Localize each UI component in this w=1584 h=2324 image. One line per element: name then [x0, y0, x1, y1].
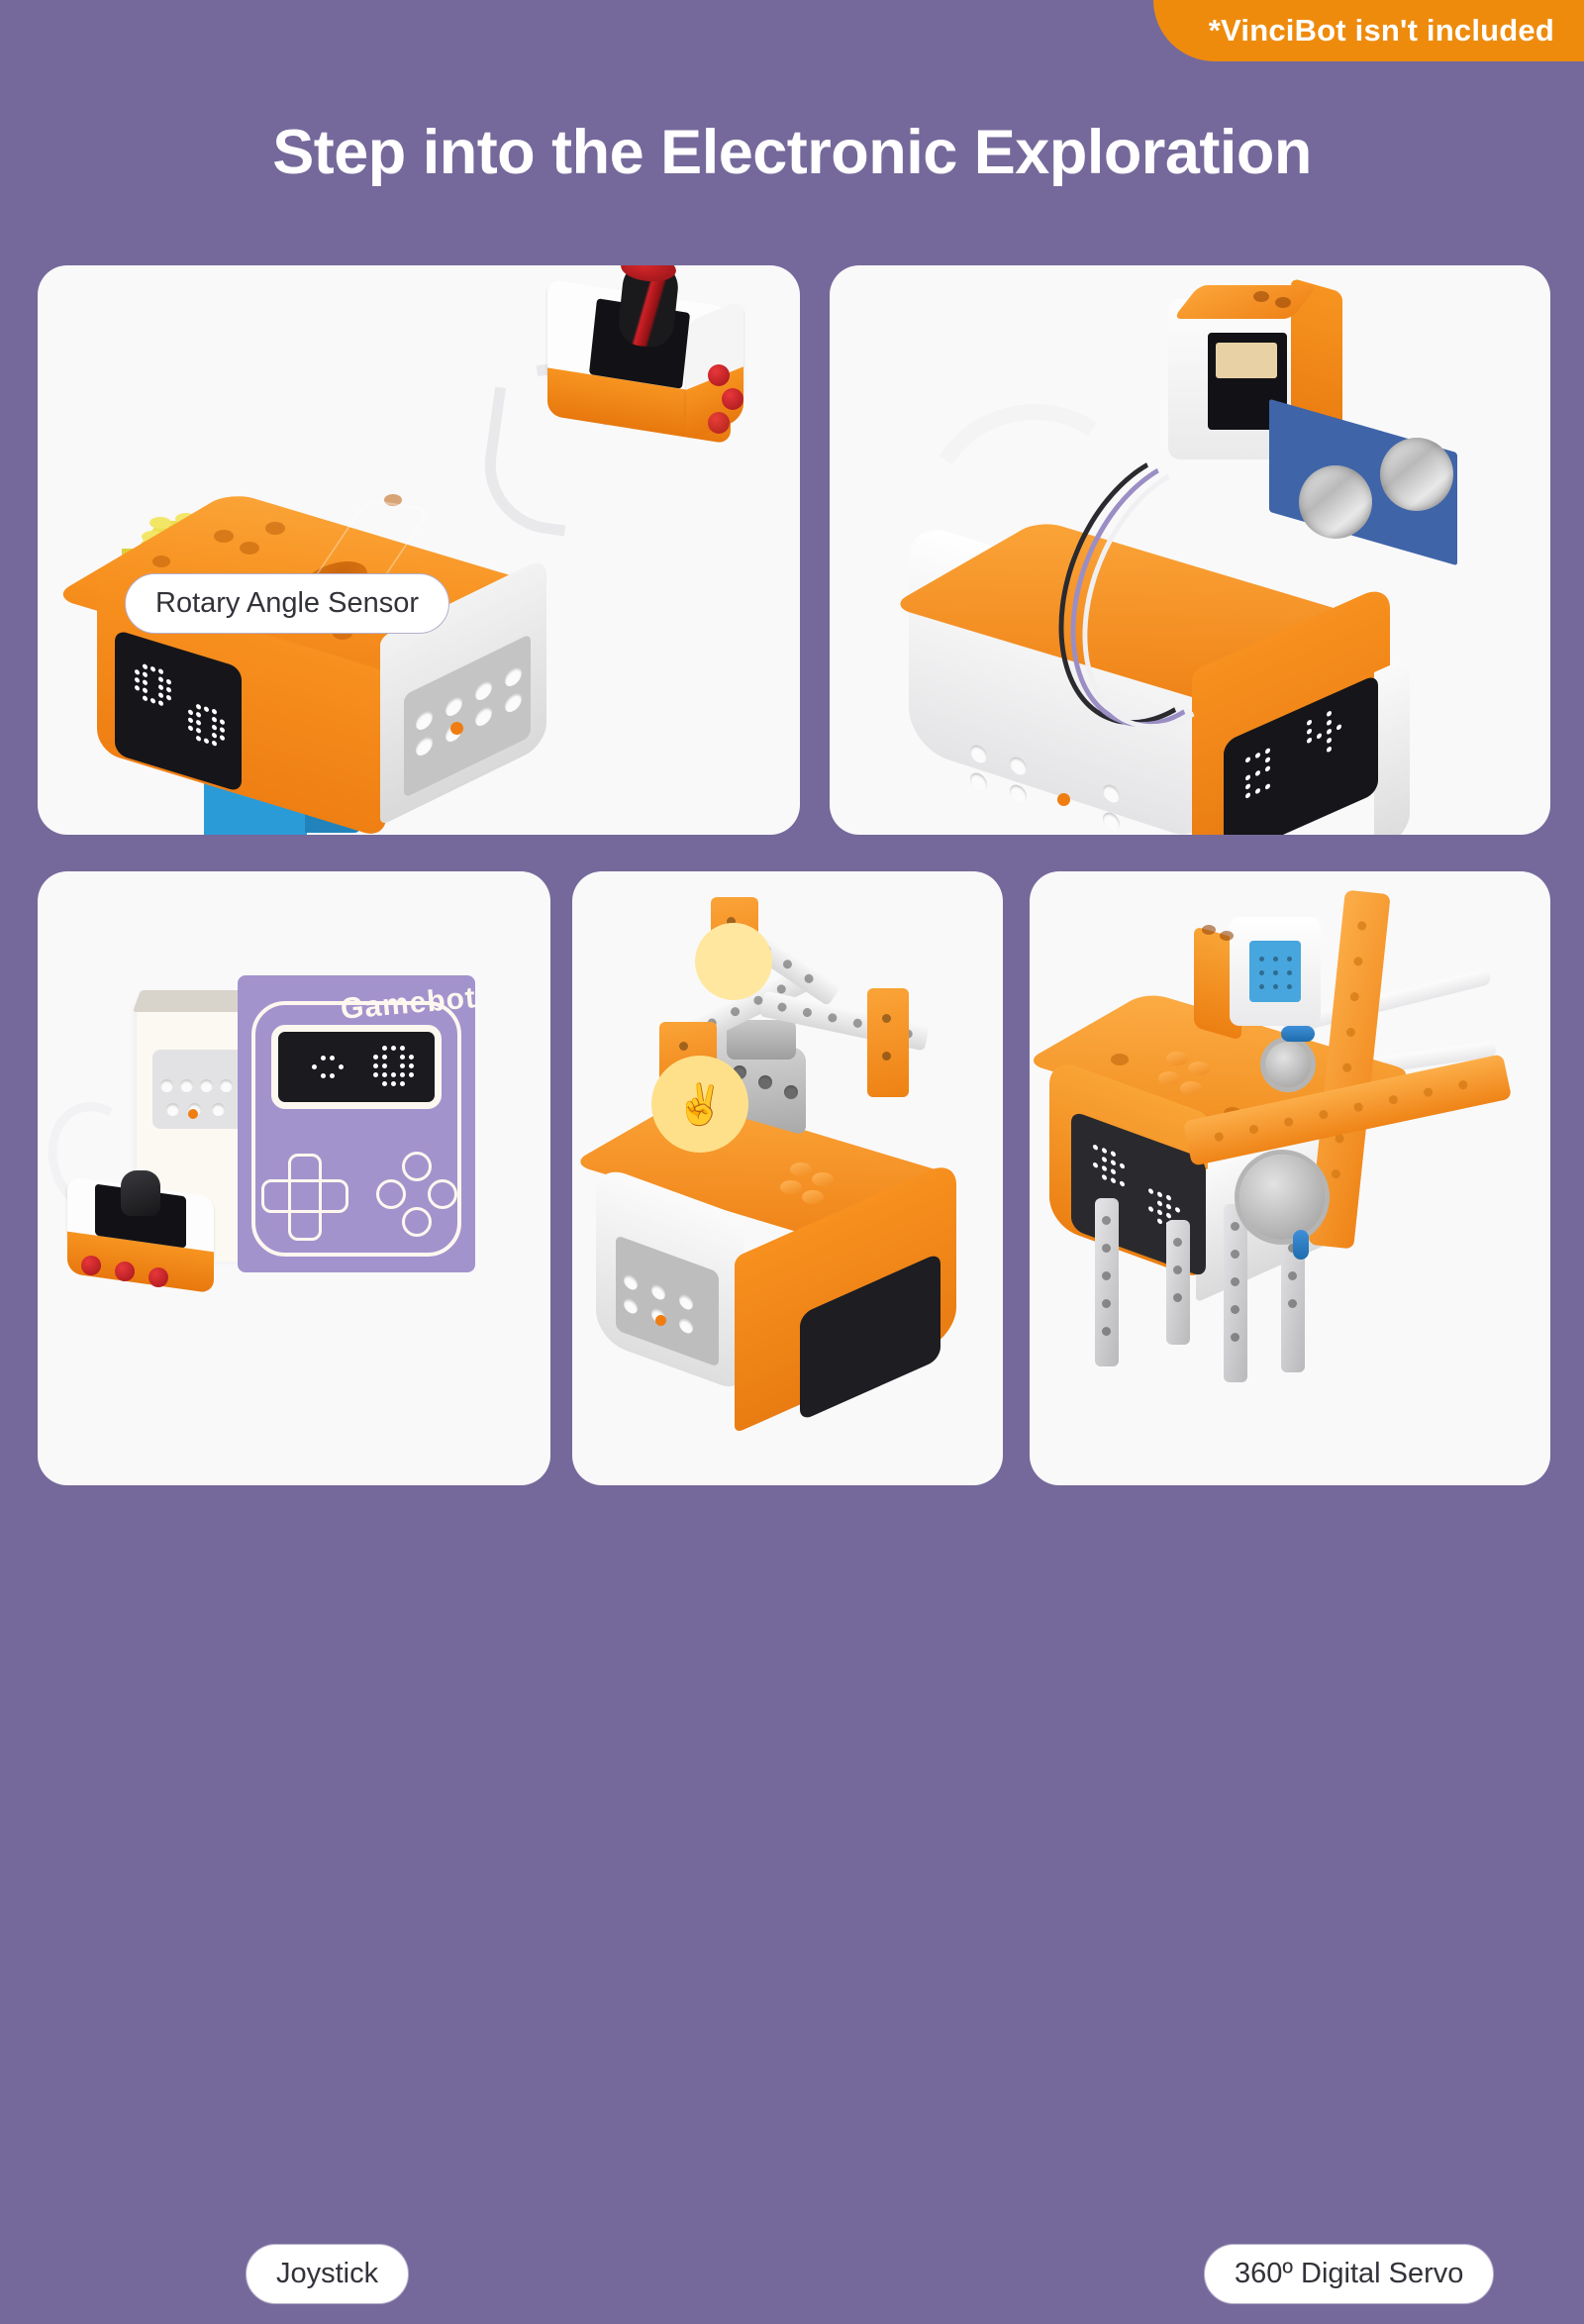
- not-included-banner: *VinciBot isn't included: [1153, 0, 1584, 61]
- label-rotary-angle-sensor: Rotary Angle Sensor: [125, 573, 449, 634]
- orange-bracket-right: [867, 988, 909, 1097]
- led-eye-right: [188, 701, 225, 749]
- dht11-sensor-module: [1194, 917, 1329, 1042]
- token-scissors: ✌: [651, 1056, 748, 1153]
- card-servo-illustration: ✌: [572, 871, 1003, 1485]
- dpad-vertical: [288, 1154, 322, 1241]
- led-eye-left: [135, 661, 171, 709]
- card-temperature-humidity-sensor: Temperature & Humidity Sensor (DHT11): [1030, 871, 1550, 1485]
- grey-leg-1: [1095, 1198, 1119, 1366]
- card-dht-illustration: [1030, 871, 1550, 1485]
- token-back: [695, 923, 772, 1000]
- label-joystick: Joystick: [246, 2244, 409, 2304]
- page-title: Step into the Electronic Exploration: [0, 117, 1584, 188]
- card-digital-servo: ✌ 360º Digital Servo: [572, 871, 1003, 1485]
- card-module-link-unit: Module Link Unit: [830, 265, 1550, 835]
- card-joystick: Gamebot Joystick: [38, 871, 550, 1485]
- card-rotary-illustration: [38, 265, 800, 835]
- card-module-illustration: [830, 265, 1550, 835]
- gear-large: [1239, 1155, 1325, 1240]
- joystick-module: [59, 1168, 238, 1307]
- card-rotary-angle-sensor: Rotary Angle Sensor: [38, 265, 800, 835]
- not-included-text: *VinciBot isn't included: [1209, 13, 1554, 49]
- gamebot-screen: [271, 1025, 442, 1109]
- blue-pin-2: [1293, 1230, 1309, 1260]
- grey-leg-3: [1224, 1204, 1247, 1382]
- rotary-angle-sensor-module: [538, 283, 755, 461]
- blue-pin-1: [1281, 1026, 1315, 1042]
- ultrasonic-transducer-left: [1299, 465, 1372, 539]
- label-digital-servo: 360º Digital Servo: [1204, 2244, 1494, 2304]
- screen-left-eye: [312, 1056, 344, 1078]
- action-button-right: [428, 1179, 457, 1209]
- joystick-stick: [121, 1170, 160, 1216]
- gear-small: [1265, 1042, 1311, 1087]
- led-eye-left: [1093, 1144, 1125, 1187]
- action-button-down: [402, 1207, 432, 1237]
- led-digit-4: [1307, 705, 1342, 761]
- ultrasonic-transducer-right: [1380, 438, 1453, 511]
- dht11-chip: [1249, 941, 1301, 1002]
- vincibot-robot: [97, 478, 632, 835]
- gamebot-faceplate: Gamebot: [238, 975, 475, 1272]
- screen-right-eye: [373, 1046, 414, 1086]
- action-button-left: [376, 1179, 406, 1209]
- ultrasonic-sensor: [1263, 412, 1491, 560]
- scissors-hand-icon: ✌: [675, 1081, 725, 1128]
- action-button-up: [402, 1152, 432, 1181]
- grey-leg-2: [1166, 1220, 1190, 1345]
- card-joystick-illustration: Gamebot: [38, 871, 550, 1485]
- led-digit-2: [1245, 743, 1281, 799]
